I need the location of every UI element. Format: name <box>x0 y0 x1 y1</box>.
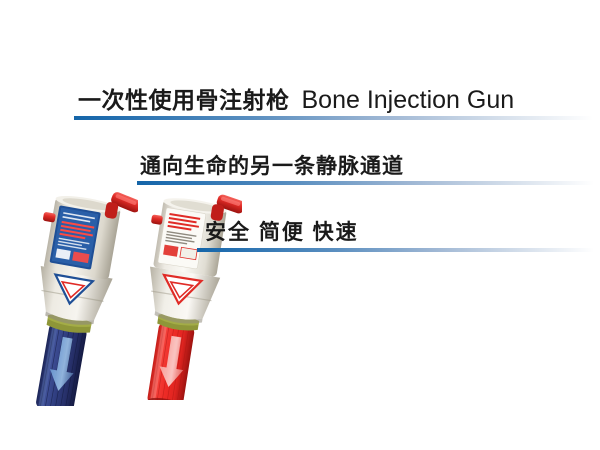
product-image-blue-device: bone-injection-gun-blue <box>8 186 138 406</box>
red-device-side-stub <box>151 214 163 225</box>
title-underline-bar <box>74 116 593 120</box>
tagline: 安全 简便 快速 <box>205 216 359 246</box>
red-handle <box>147 322 196 400</box>
slide-canvas: bone-injection-gun-blue <box>0 0 600 450</box>
blue-device-name: bone-injection-gun-blue <box>138 186 139 187</box>
tagline-underline-bar <box>197 248 594 252</box>
page-title-english: Bone Injection Gun <box>302 86 515 114</box>
red-device-name: bone-injection-gun-red <box>242 190 243 191</box>
subtitle: 通向生命的另一条静脉通道 <box>140 150 404 180</box>
red-device-label <box>158 207 206 269</box>
page-title: 一次性使用骨注射枪Bone Injection Gun <box>78 81 514 115</box>
blue-handle <box>35 322 87 406</box>
subtitle-underline-bar <box>137 181 594 185</box>
page-title-chinese: 一次性使用骨注射枪 <box>78 87 290 113</box>
